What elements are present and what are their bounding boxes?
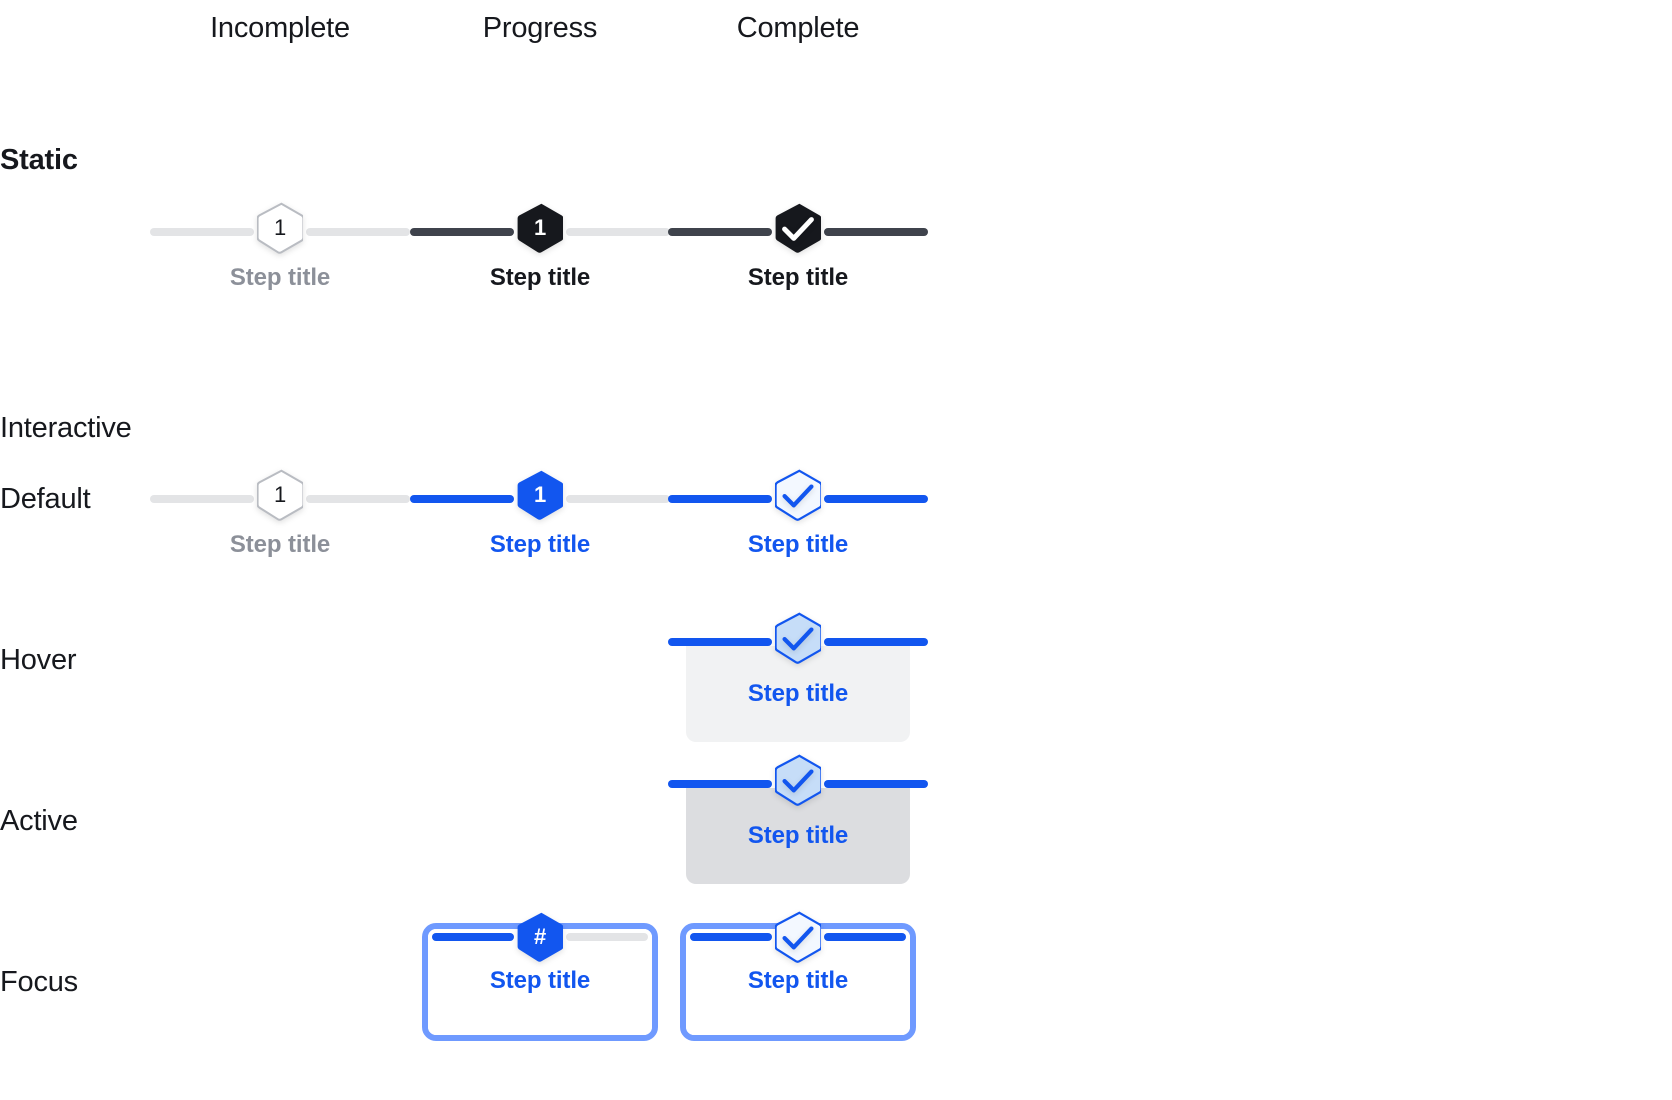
connector-segment-right bbox=[306, 228, 410, 236]
connector-segment-left bbox=[668, 780, 772, 788]
marker-number: 1 bbox=[534, 484, 546, 506]
column-header-row: Incomplete Progress Complete bbox=[0, 0, 1672, 64]
connector-segment-right bbox=[306, 495, 410, 503]
step-title: Step title bbox=[668, 822, 928, 850]
connector-segment-left bbox=[150, 228, 254, 236]
connector-segment-right bbox=[824, 780, 928, 788]
step-title: Step title bbox=[668, 531, 928, 559]
hexagon-blue-hash-icon[interactable]: # bbox=[517, 911, 563, 963]
connector-segment-left bbox=[668, 638, 772, 646]
hexagon-outline-number-icon: 1 bbox=[257, 202, 303, 254]
marker-number: 1 bbox=[274, 217, 286, 239]
row-label-default: Default bbox=[0, 483, 91, 516]
hexagon-blue-outline-check-icon[interactable] bbox=[775, 469, 821, 521]
connector-segment-right bbox=[824, 228, 928, 236]
marker-number: 1 bbox=[534, 217, 546, 239]
step-title: Step title bbox=[410, 264, 670, 292]
step-title: Step title bbox=[668, 680, 928, 708]
hexagon-blue-outline-check-icon[interactable] bbox=[775, 612, 821, 664]
step-title: Step title bbox=[150, 531, 410, 559]
connector-segment-right bbox=[824, 933, 906, 941]
hexagon-outline-number-icon[interactable]: 1 bbox=[257, 469, 303, 521]
column-header-complete: Complete bbox=[648, 12, 948, 45]
step-title: Step title bbox=[410, 967, 670, 995]
connector-segment-right bbox=[824, 638, 928, 646]
connector-segment-right bbox=[566, 495, 670, 503]
connector-segment-left bbox=[410, 495, 514, 503]
column-header-incomplete: Incomplete bbox=[130, 12, 430, 45]
connector-segment-left bbox=[410, 228, 514, 236]
marker-hash: # bbox=[534, 926, 546, 948]
connector-segment-left bbox=[668, 495, 772, 503]
row-label-active: Active bbox=[0, 805, 78, 838]
row-label-hover: Hover bbox=[0, 644, 76, 677]
marker-number: 1 bbox=[274, 484, 286, 506]
connector-segment-right bbox=[566, 933, 648, 941]
step-title: Step title bbox=[150, 264, 410, 292]
hexagon-blue-outline-check-icon[interactable] bbox=[775, 754, 821, 806]
hexagon-filled-number-icon: 1 bbox=[517, 202, 563, 254]
connector-segment-left bbox=[668, 228, 772, 236]
connector-segment-right bbox=[566, 228, 670, 236]
hexagon-filled-check-icon bbox=[775, 202, 821, 254]
row-label-focus: Focus bbox=[0, 966, 78, 999]
section-label-interactive: Interactive bbox=[0, 412, 132, 445]
section-label-static: Static bbox=[0, 144, 78, 177]
connector-segment-right bbox=[824, 495, 928, 503]
connector-segment-left bbox=[150, 495, 254, 503]
stepper-specimen-sheet: Incomplete Progress Complete Static 1 St… bbox=[0, 0, 1672, 1100]
step-title: Step title bbox=[668, 264, 928, 292]
step-title: Step title bbox=[668, 967, 928, 995]
step-title: Step title bbox=[410, 531, 670, 559]
hexagon-blue-outline-check-icon[interactable] bbox=[775, 911, 821, 963]
connector-segment-left bbox=[690, 933, 772, 941]
column-header-progress: Progress bbox=[390, 12, 690, 45]
connector-segment-left bbox=[432, 933, 514, 941]
hexagon-blue-number-icon[interactable]: 1 bbox=[517, 469, 563, 521]
